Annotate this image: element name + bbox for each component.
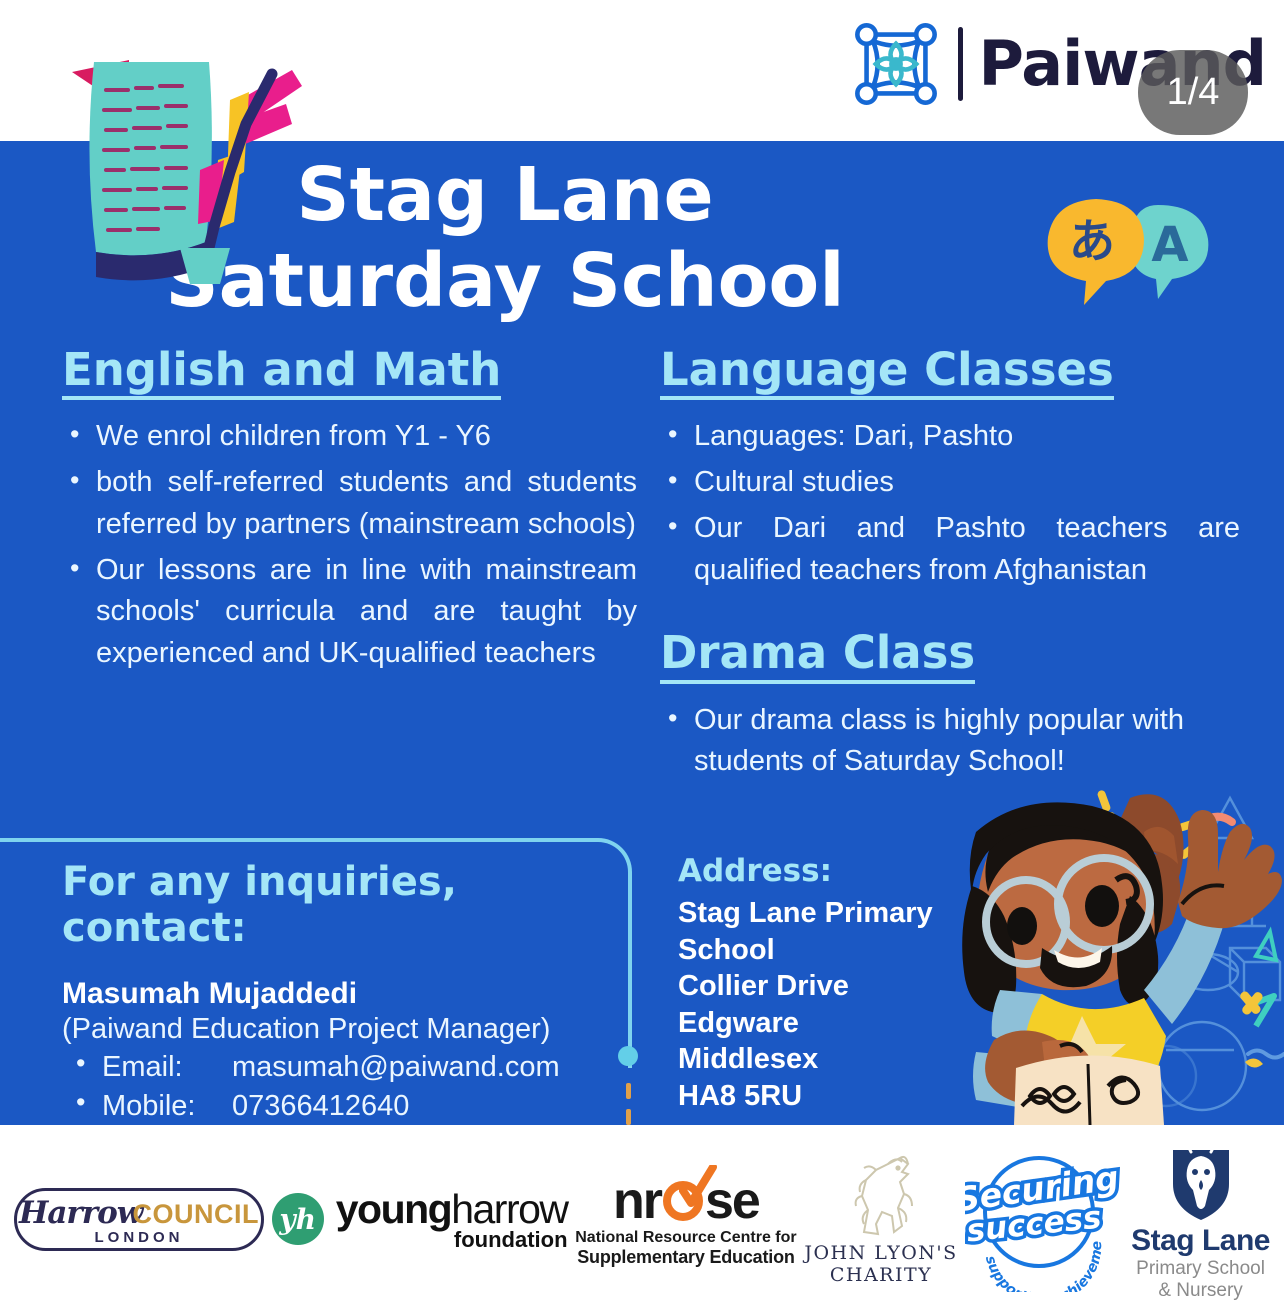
contact-mobile-label: Mobile: <box>102 1087 232 1125</box>
contact-person-role: (Paiwand Education Project Manager) <box>62 1013 622 1046</box>
svg-text:あ: あ <box>1069 214 1115 268</box>
svg-text:A: A <box>1151 217 1188 273</box>
address-line: Stag Lane Primary <box>678 895 933 932</box>
footer-logo-bar: Harrow COUNCIL LONDON yh young harrow fo… <box>0 1125 1284 1313</box>
address-line: Collier Drive <box>678 968 933 1005</box>
paiwand-knot-icon <box>850 18 942 110</box>
john-lyons-charity-logo: JOHN LYON'S CHARITY <box>804 1152 957 1286</box>
contact-details-list: Email: masumah@paiwand.com Mobile: 07366… <box>62 1048 622 1125</box>
bullet-list-drama-class: Our drama class is highly popular with s… <box>660 700 1240 784</box>
nrcse-text-left: nr <box>613 1171 661 1231</box>
list-item: Our Dari and Pashto teachers are qualifi… <box>694 508 1240 592</box>
section-heading-language-classes: Language Classes <box>660 346 1114 400</box>
young-harrow-light-text: harrow <box>451 1186 567 1233</box>
column-left: English and Math We enrol children from … <box>62 346 637 679</box>
list-item: Cultural studies <box>694 462 1240 504</box>
heraldic-lion-icon <box>842 1152 920 1238</box>
list-item: both self-referred students and students… <box>96 462 637 546</box>
stag-head-shield-icon <box>1165 1136 1237 1222</box>
section-heading-english-math: English and Math <box>62 346 501 400</box>
contact-block: For any inquiries, contact: Masumah Muja… <box>62 859 622 1125</box>
stag-lane-text-line-1: Stag Lane <box>1131 1224 1270 1258</box>
page-indicator-badge: 1/4 <box>1138 50 1248 135</box>
bullet-list-english-math: We enrol children from Y1 - Y6 both self… <box>62 416 637 675</box>
address-line: Middlesex <box>678 1041 933 1078</box>
list-item: We enrol children from Y1 - Y6 <box>96 416 637 458</box>
young-harrow-bold-text: young <box>336 1186 451 1233</box>
frame-dash-2 <box>626 1109 631 1125</box>
stag-lane-text-line-3: & Nursery <box>1158 1280 1242 1302</box>
frame-dash-1 <box>626 1083 631 1099</box>
raising-hand-student-illustration <box>930 776 1284 1125</box>
stag-lane-primary-school-logo: Stag Lane Primary School & Nursery <box>1131 1136 1270 1302</box>
section-heading-drama-class: Drama Class <box>660 629 975 683</box>
address-line: HA8 5RU <box>678 1078 933 1115</box>
harrow-council-logo: Harrow COUNCIL LONDON <box>14 1188 264 1251</box>
poster-slide: Paiwand 1/4 Stag Lane Saturday School <box>0 0 1284 1313</box>
contact-email-value: masumah@paiwand.com <box>232 1048 560 1087</box>
young-harrow-mark-icon: yh <box>272 1193 324 1245</box>
contact-person-name: Masumah Mujaddedi <box>62 977 622 1011</box>
nrcse-sub-text-1: National Resource Centre for <box>575 1229 796 1247</box>
contact-email-label: Email: <box>102 1048 232 1087</box>
contact-email-row[interactable]: Email: masumah@paiwand.com <box>102 1048 622 1087</box>
harrow-council-sub-text: LONDON <box>95 1229 184 1246</box>
stag-lane-text-line-2: Primary School <box>1136 1258 1265 1280</box>
john-lyons-text-line-2: CHARITY <box>830 1264 932 1286</box>
nrcse-sub-text-2: Supplementary Education <box>577 1247 794 1268</box>
contact-mobile-row[interactable]: Mobile: 07366412640 <box>102 1087 622 1125</box>
address-line: Edgware <box>678 1005 933 1042</box>
nrcse-orange-ring-icon <box>663 1181 703 1221</box>
contact-heading: For any inquiries, contact: <box>62 859 622 951</box>
list-item: Our drama class is highly popular with s… <box>694 700 1240 784</box>
contact-mobile-value: 07366412640 <box>232 1087 409 1125</box>
young-harrow-foundation-logo: yh young harrow foundation <box>272 1186 568 1253</box>
address-block: Address: Stag Lane Primary School Collie… <box>678 853 933 1114</box>
nrcse-check-icon <box>679 1165 717 1209</box>
john-lyons-text-line-1: JOHN LYON'S <box>804 1242 957 1264</box>
logo-divider <box>958 27 963 101</box>
address-line: School <box>678 932 933 969</box>
harrow-council-main-text: Harrow <box>19 1195 142 1231</box>
language-speech-bubbles-icon: あ A <box>1040 193 1230 311</box>
bullet-list-language-classes: Languages: Dari, Pashto Cultural studies… <box>660 416 1240 591</box>
young-harrow-sub-text: foundation <box>336 1227 568 1253</box>
securing-success-badge-icon: supporting achievement Securing success <box>965 1146 1123 1292</box>
notepad-and-quill-illustration <box>34 52 324 302</box>
securing-success-logo: supporting achievement Securing success <box>965 1146 1123 1292</box>
list-item: Languages: Dari, Pashto <box>694 416 1240 458</box>
column-right: Language Classes Languages: Dari, Pashto… <box>660 346 1240 787</box>
address-heading: Address: <box>678 853 933 889</box>
list-item: Our lessons are in line with mainstream … <box>96 550 637 675</box>
harrow-council-accent-text: COUNCIL <box>132 1199 259 1230</box>
nrcse-logo: nr se National Resource Centre for Suppl… <box>575 1171 796 1268</box>
